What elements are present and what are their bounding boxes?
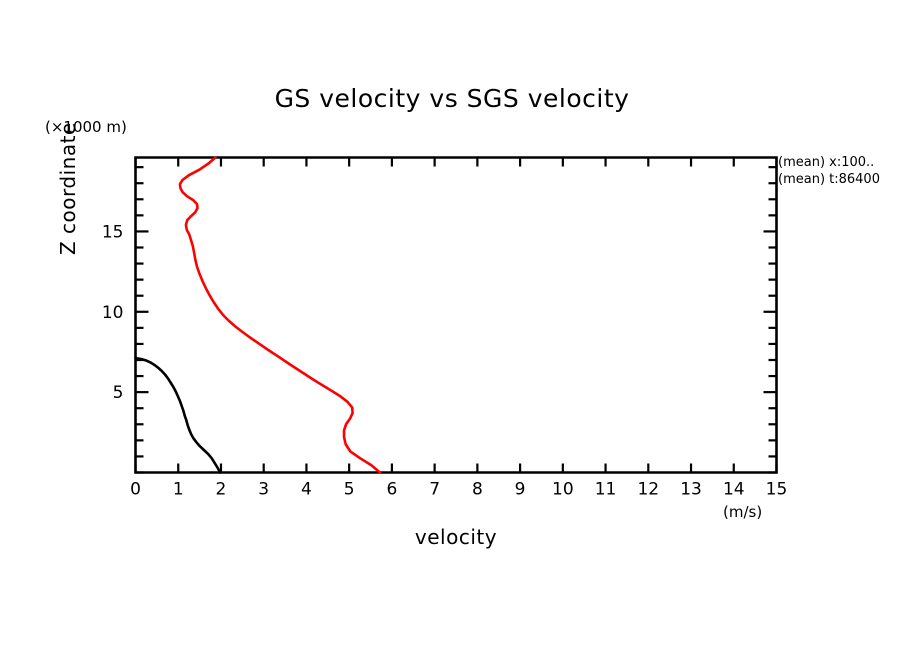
y-tick-label: 15	[102, 222, 124, 242]
plot-area: 012345678910111213141551015	[0, 0, 904, 654]
x-tick-label: 10	[552, 480, 574, 500]
x-tick-label: 1	[173, 480, 184, 500]
x-tick-label: 3	[258, 480, 269, 500]
x-tick-label: 11	[595, 480, 617, 500]
x-tick-label: 7	[429, 480, 440, 500]
x-tick-label: 12	[637, 480, 659, 500]
y-tick-label: 5	[113, 383, 124, 403]
x-tick-label: 14	[723, 480, 745, 500]
x-tick-label: 0	[130, 480, 141, 500]
x-tick-label: 8	[472, 480, 483, 500]
x-tick-label: 2	[216, 480, 227, 500]
x-tick-label: 5	[344, 480, 355, 500]
y-tick-label: 10	[102, 303, 124, 323]
x-tick-label: 13	[680, 480, 702, 500]
x-tick-label: 15	[766, 480, 788, 500]
chart-canvas: GS velocity vs SGS velocity (×1000 m) Z …	[0, 0, 904, 654]
x-tick-label: 6	[386, 480, 397, 500]
x-tick-label: 9	[515, 480, 526, 500]
series-line-sgs-velocity	[180, 158, 380, 473]
axis-frame	[136, 158, 777, 473]
x-tick-label: 4	[301, 480, 312, 500]
series-line-gs-velocity	[136, 358, 221, 472]
